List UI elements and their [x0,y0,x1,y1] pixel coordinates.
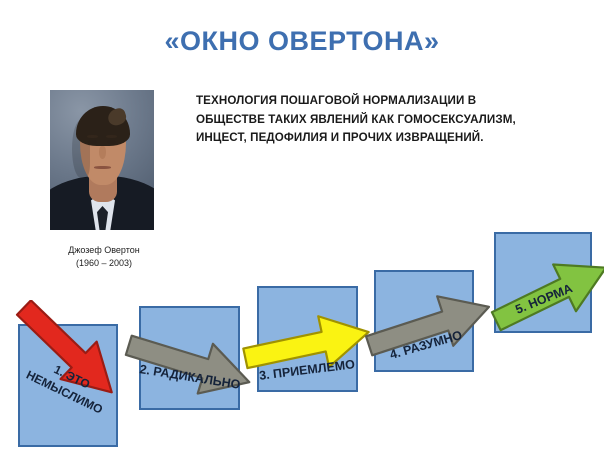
description-line-3: ИНЦЕСТ, ПЕДОФИЛИЯ И ПРОЧИХ ИЗВРАЩЕНИЙ. [196,129,588,148]
photo-eyebrow-left [87,135,98,138]
overton-portrait-photo [50,90,154,230]
photo-mouth [94,166,111,169]
portrait-name: Джозеф Овертон [20,244,188,257]
description-text: ТЕХНОЛОГИЯ ПОШАГОВОЙ НОРМАЛИЗАЦИИ В ОБЩЕ… [196,92,588,148]
portrait-years: (1960 – 2003) [20,257,188,270]
page-title: «ОКНО ОВЕРТОНА» [0,26,604,57]
photo-eyebrow-right [106,135,117,138]
photo-nose [99,146,106,159]
portrait-caption: Джозеф Овертон (1960 – 2003) [20,244,188,270]
slide-canvas: «ОКНО ОВЕРТОНА» Джозеф Овертон (1960 – 2… [0,0,604,452]
step-box-2[interactable] [139,306,240,410]
description-line-2: ОБЩЕСТВЕ ТАКИХ ЯВЛЕНИЙ КАК ГОМОСЕКСУАЛИЗ… [196,111,588,130]
photo-eye-left [88,140,97,144]
description-line-1: ТЕХНОЛОГИЯ ПОШАГОВОЙ НОРМАЛИЗАЦИИ В [196,92,588,111]
photo-eye-right [107,140,116,144]
